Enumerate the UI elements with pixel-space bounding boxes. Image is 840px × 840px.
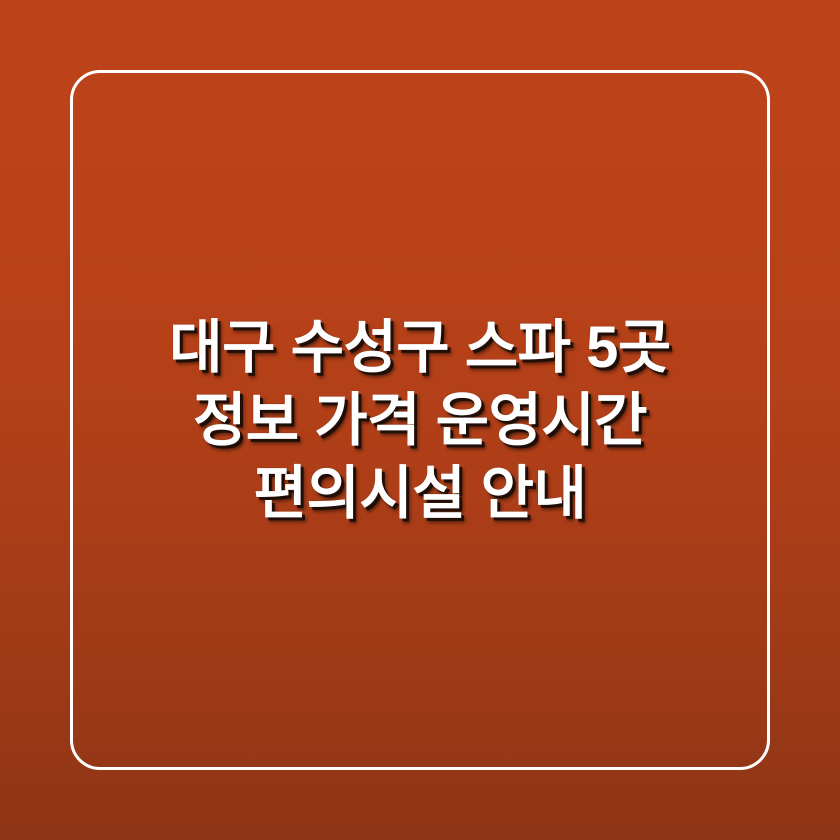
title-line-3: 편의시설 안내	[80, 457, 760, 530]
title-line-1: 대구 수성구 스파 5곳	[80, 311, 760, 384]
title-line-2: 정보 가격 운영시간	[80, 384, 760, 457]
thumbnail-card: 대구 수성구 스파 5곳 정보 가격 운영시간 편의시설 안내	[0, 0, 840, 840]
title-block: 대구 수성구 스파 5곳 정보 가격 운영시간 편의시설 안내	[0, 0, 840, 840]
